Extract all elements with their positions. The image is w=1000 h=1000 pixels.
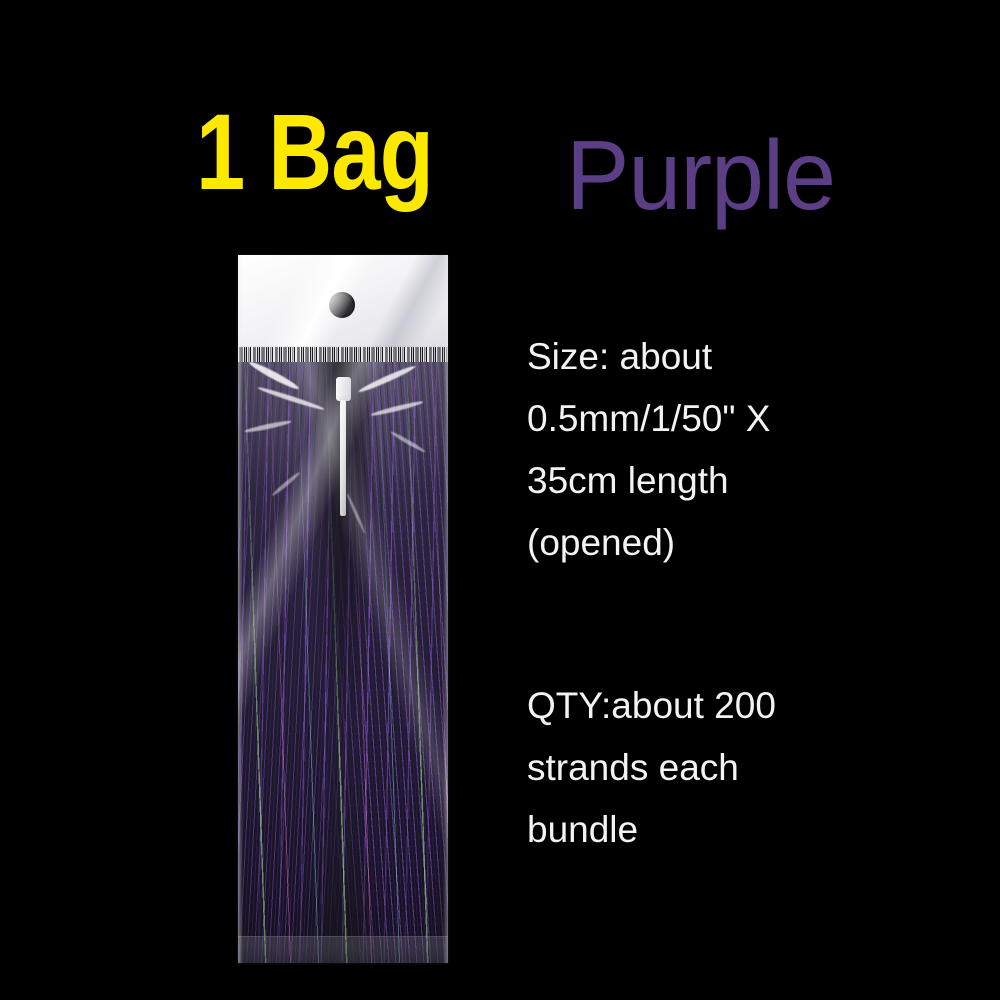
size-spec: Size: about 0.5mm/1/50" X 35cm length (o… bbox=[527, 326, 770, 574]
film-glare bbox=[370, 400, 424, 418]
size-spec-line: Size: about bbox=[527, 326, 770, 388]
film-glare bbox=[271, 471, 301, 497]
header-card bbox=[238, 255, 448, 348]
film-glare bbox=[244, 419, 292, 434]
size-spec-line: 0.5mm/1/50" X bbox=[527, 388, 770, 450]
hang-hole-icon bbox=[329, 292, 355, 318]
product-image: 1 Bag Purple bbox=[0, 0, 1000, 1000]
film-glare bbox=[248, 362, 301, 392]
tear-strip bbox=[238, 347, 448, 362]
headline: 1 Bag Purple bbox=[0, 48, 1000, 178]
quantity-spec: QTY:about 200 strands each bundle bbox=[527, 675, 776, 861]
size-spec-line: (opened) bbox=[527, 512, 770, 574]
size-spec-line: 35cm length bbox=[527, 450, 770, 512]
bag-bottom-seal bbox=[238, 936, 448, 963]
color-title: Purple bbox=[566, 126, 835, 224]
quantity-spec-line: strands each bbox=[527, 737, 776, 799]
film-glare bbox=[390, 430, 427, 453]
quantity-title: 1 Bag bbox=[196, 98, 433, 206]
quantity-spec-line: bundle bbox=[527, 799, 776, 861]
zip-tie-tail bbox=[340, 400, 346, 516]
zip-tie-head bbox=[336, 377, 351, 401]
product-bag bbox=[238, 255, 448, 963]
bag-interior bbox=[238, 362, 448, 963]
quantity-spec-line: QTY:about 200 bbox=[527, 675, 776, 737]
